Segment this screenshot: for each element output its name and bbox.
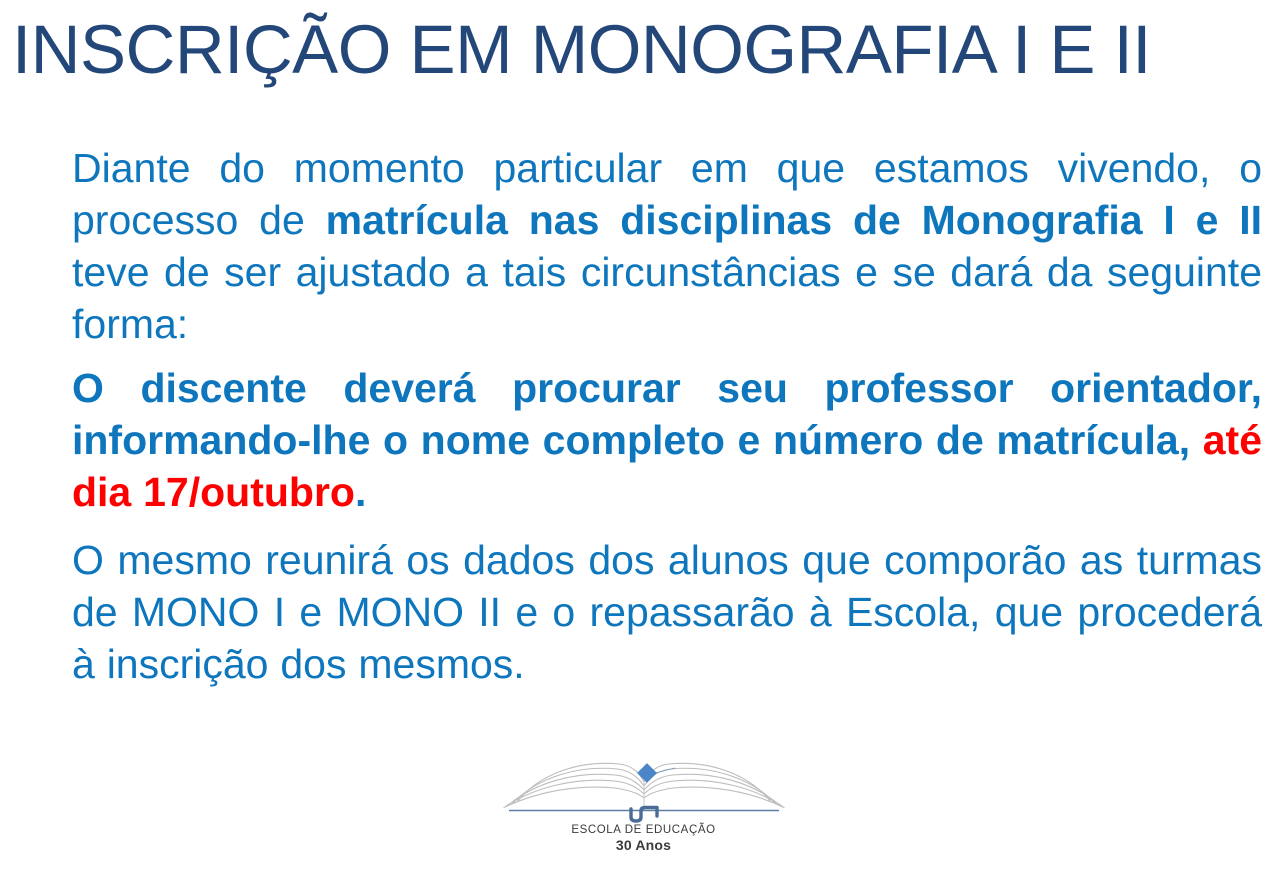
paragraph-instruction-text: O discente deverá procurar seu professor… xyxy=(72,365,1262,463)
body-text-block: Diante do momento particular em que esta… xyxy=(72,142,1262,690)
paragraph-followup: O mesmo reunirá os dados dos alunos que … xyxy=(72,534,1262,690)
paragraph-instruction-period: . xyxy=(355,469,366,515)
logo-wordmark: ESCOLA DE EDUCAÇÃO 30 Anos xyxy=(479,824,809,853)
logo-line-1: ESCOLA DE EDUCAÇÃO xyxy=(479,824,809,837)
diamond-icon xyxy=(637,763,657,783)
escola-de-educacao-logo: ESCOLA DE EDUCAÇÃO 30 Anos xyxy=(479,752,809,864)
logo-line-2: 30 Anos xyxy=(479,837,809,853)
paragraph-intro-part2: teve de ser ajustado a tais circunstânci… xyxy=(72,249,1262,347)
open-book-icon xyxy=(479,752,809,824)
slide-canvas: INSCRIÇÃO EM MONOGRAFIA I E II Diante do… xyxy=(0,0,1287,869)
paragraph-intro: Diante do momento particular em que esta… xyxy=(72,142,1262,350)
paragraph-intro-bold: matrícula nas disciplinas de Monografia … xyxy=(326,197,1262,243)
page-title: INSCRIÇÃO EM MONOGRAFIA I E II xyxy=(12,8,1275,92)
paragraph-instruction: O discente deverá procurar seu professor… xyxy=(72,362,1262,518)
